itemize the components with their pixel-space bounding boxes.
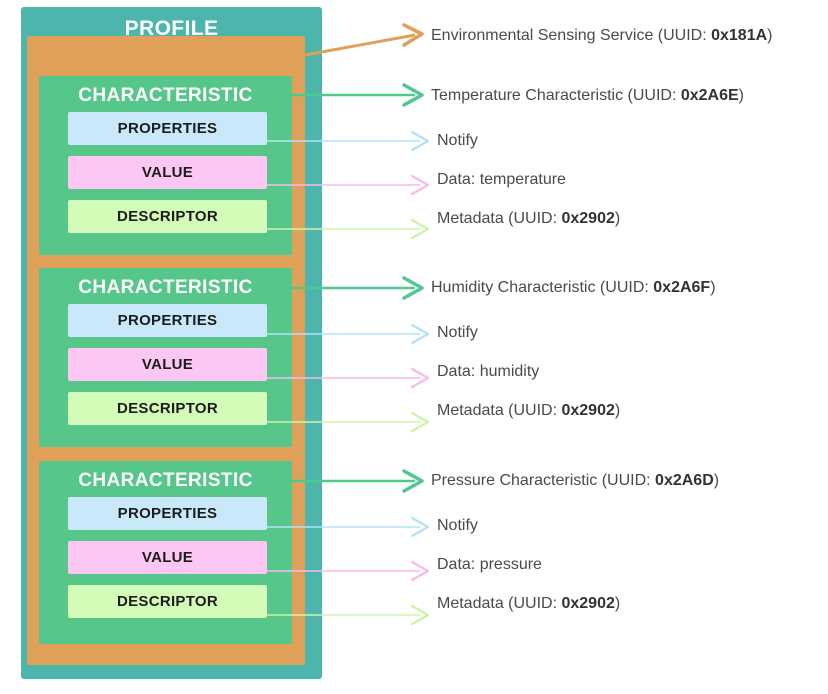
- characteristic-annotation-pressure: Pressure Characteristic (UUID: 0x2A6D): [431, 473, 719, 489]
- descriptor-box: DESCRIPTOR: [68, 585, 267, 618]
- characteristic-annotation-humidity: Humidity Characteristic (UUID: 0x2A6F): [431, 280, 716, 296]
- characteristic-box-humidity: CHARACTERISTIC PROPERTIES VALUE DESCRIPT…: [39, 268, 292, 447]
- properties-annotation-pressure: Notify: [437, 518, 478, 534]
- value-box: VALUE: [68, 348, 267, 381]
- value-box: VALUE: [68, 541, 267, 574]
- descriptor-annotation-humidity: Metadata (UUID: 0x2902): [437, 403, 620, 419]
- characteristic-label: CHARACTERISTIC: [39, 471, 292, 490]
- value-annotation-humidity: Data: humidity: [437, 364, 539, 380]
- characteristic-box-temperature: CHARACTERISTIC PROPERTIES VALUE DESCRIPT…: [39, 76, 292, 255]
- properties-box: PROPERTIES: [68, 497, 267, 530]
- descriptor-box: DESCRIPTOR: [68, 392, 267, 425]
- descriptor-annotation-temperature: Metadata (UUID: 0x2902): [437, 211, 620, 227]
- diagram-canvas: PROFILE SERVICE CHARACTERISTIC PROPERTIE…: [0, 0, 828, 694]
- characteristic-box-pressure: CHARACTERISTIC PROPERTIES VALUE DESCRIPT…: [39, 461, 292, 644]
- characteristic-label: CHARACTERISTIC: [39, 86, 292, 105]
- descriptor-box: DESCRIPTOR: [68, 200, 267, 233]
- value-annotation-pressure: Data: pressure: [437, 557, 542, 573]
- properties-annotation-humidity: Notify: [437, 325, 478, 341]
- service-annotation: Environmental Sensing Service (UUID: 0x1…: [431, 28, 772, 44]
- properties-box: PROPERTIES: [68, 112, 267, 145]
- properties-box: PROPERTIES: [68, 304, 267, 337]
- value-box: VALUE: [68, 156, 267, 189]
- value-annotation-temperature: Data: temperature: [437, 172, 566, 188]
- descriptor-annotation-pressure: Metadata (UUID: 0x2902): [437, 596, 620, 612]
- service-connector-arrow: [305, 25, 422, 55]
- characteristic-label: CHARACTERISTIC: [39, 278, 292, 297]
- characteristic-annotation-temperature: Temperature Characteristic (UUID: 0x2A6E…: [431, 88, 744, 104]
- properties-annotation-temperature: Notify: [437, 133, 478, 149]
